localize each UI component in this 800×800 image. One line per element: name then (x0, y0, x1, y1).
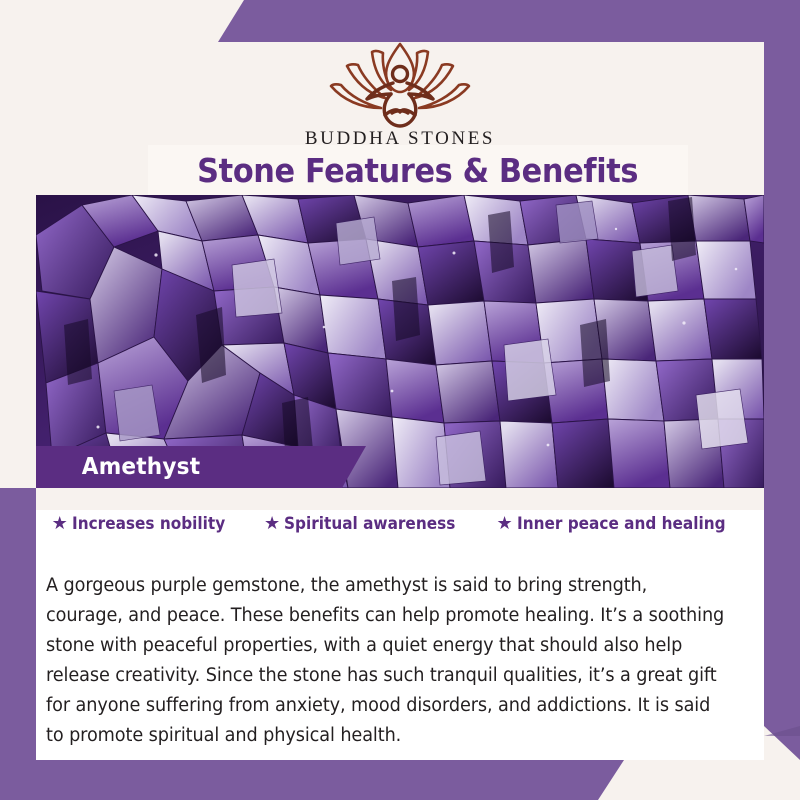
stone-name: Amethyst (82, 454, 200, 480)
frame-band-left (0, 488, 36, 800)
content-plate: BUDDHA STONES Stone Features & Benefits (36, 42, 764, 760)
lotus-meditation-icon (325, 36, 475, 132)
feature-item: ★ Increases nobility (52, 514, 242, 534)
star-icon: ★ (264, 515, 280, 533)
stone-photo (36, 195, 764, 488)
stone-name-bar: Amethyst (36, 446, 366, 488)
star-icon: ★ (496, 515, 512, 533)
feature-label: Spiritual awareness (284, 514, 455, 534)
stone-details-section: ★ Increases nobility ★ Spiritual awarene… (36, 488, 764, 760)
title-strip: Stone Features & Benefits (148, 145, 688, 195)
feature-label: Inner peace and healing (517, 514, 726, 534)
page-title: Stone Features & Benefits (198, 151, 639, 190)
feature-item: ★ Spiritual awareness (264, 514, 474, 534)
frame-band-right (764, 0, 800, 760)
feature-item: ★ Inner peace and healing (496, 514, 748, 534)
product-info-card: BUDDHA STONES Stone Features & Benefits (0, 0, 800, 800)
frame-band-top (218, 0, 800, 42)
frame-band-bottom (0, 760, 624, 800)
section-divider (36, 488, 764, 510)
stone-description: A gorgeous purple gemstone, the amethyst… (46, 571, 726, 751)
feature-list: ★ Increases nobility ★ Spiritual awarene… (36, 514, 764, 534)
feature-label: Increases nobility (72, 514, 225, 534)
star-icon: ★ (52, 515, 68, 533)
